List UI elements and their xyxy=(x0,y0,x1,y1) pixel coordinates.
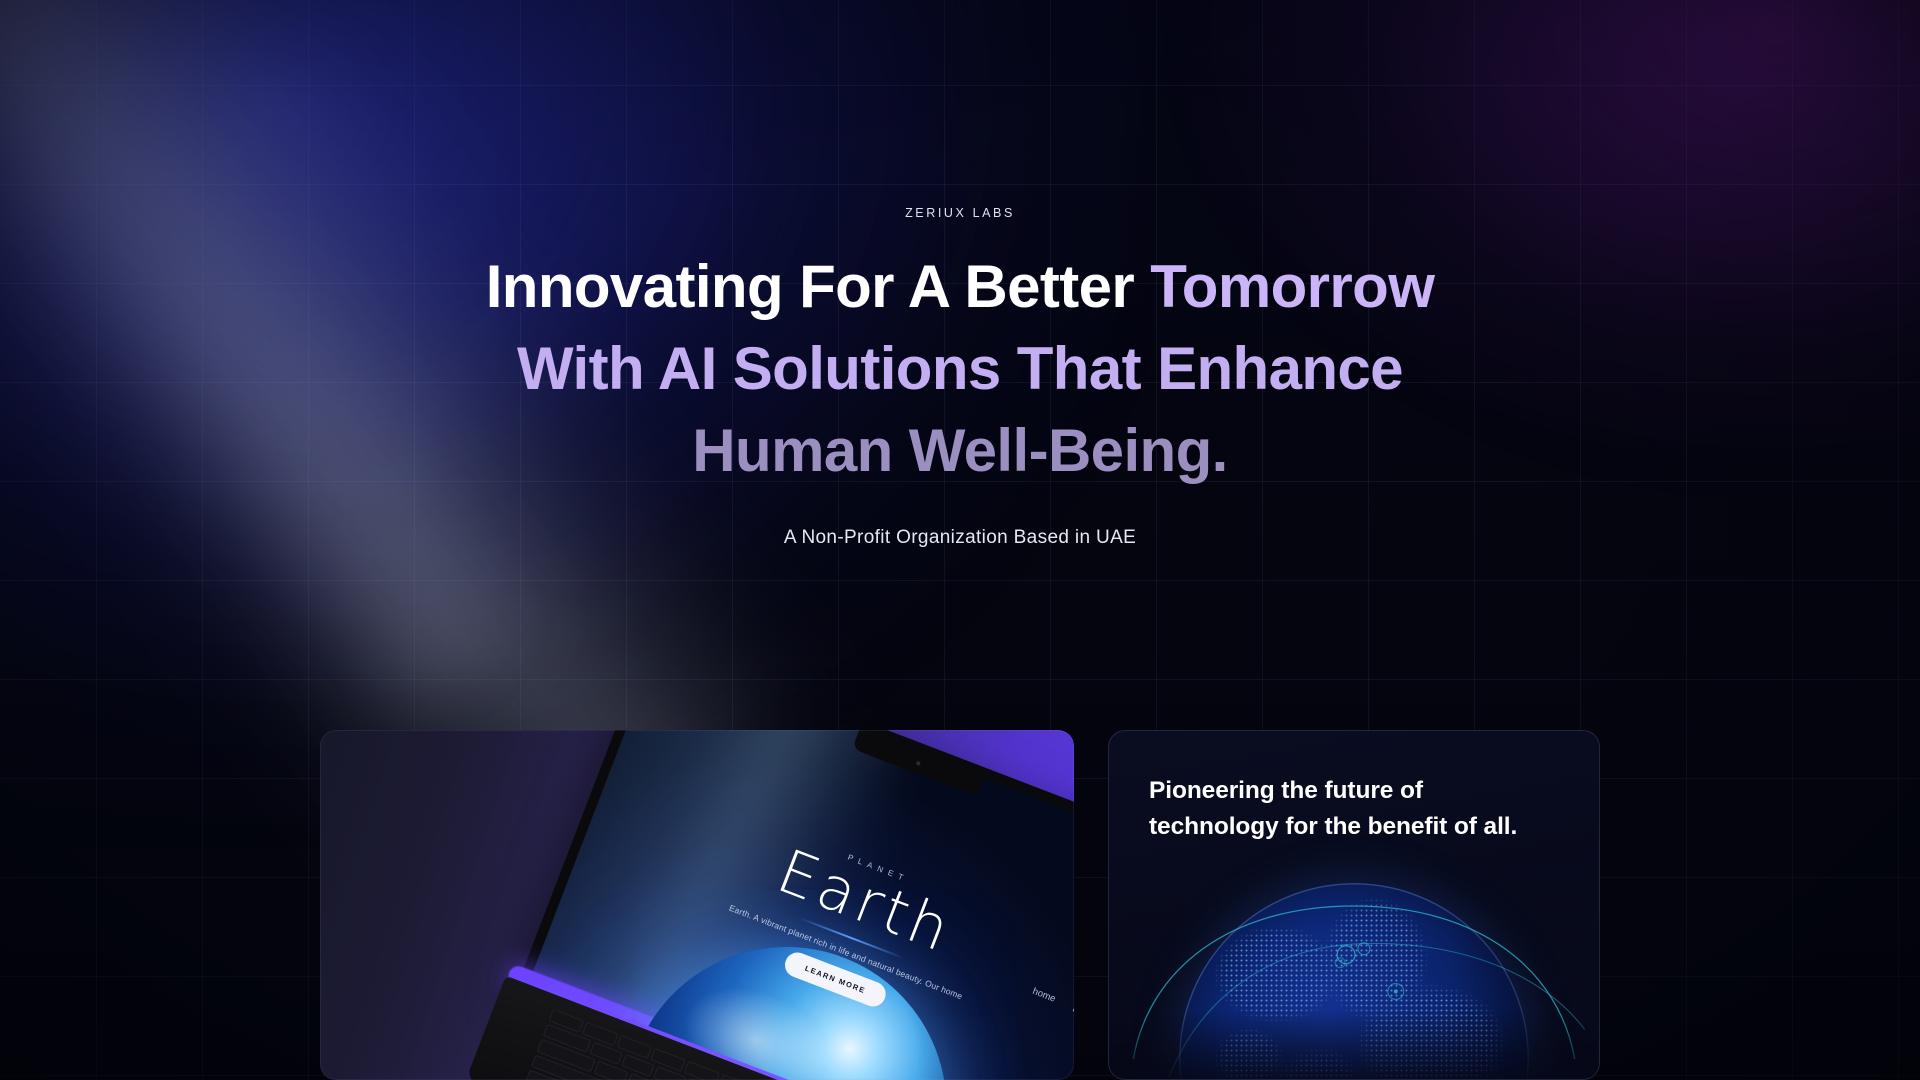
laptop-mockup: SpaceSystem home planets PLANET Earth Ea… xyxy=(482,730,1074,1080)
headline-line-3: Human Well-Being. xyxy=(0,410,1920,492)
showcase-card[interactable]: SpaceSystem home planets PLANET Earth Ea… xyxy=(320,730,1074,1080)
hero-subtitle: A Non-Profit Organization Based in UAE xyxy=(0,527,1920,549)
cards-row: SpaceSystem home planets PLANET Earth Ea… xyxy=(320,730,1600,1080)
page-root: ZERIUX LABS Innovating For A Better Tomo… xyxy=(0,0,1920,1080)
info-card-title: Pioneering the future of technology for … xyxy=(1149,773,1519,845)
webcam-notch xyxy=(852,730,984,797)
headline-line-1-accent: Tomorrow xyxy=(1150,253,1434,320)
page-title: Innovating For A Better Tomorrow With AI… xyxy=(0,246,1920,492)
dotted-globe-icon xyxy=(1179,883,1529,1080)
headline-line-1: Innovating For A Better Tomorrow xyxy=(0,246,1920,328)
headline-line-1-plain: Innovating For A Better xyxy=(486,253,1151,320)
hero-section: ZERIUX LABS Innovating For A Better Tomo… xyxy=(0,206,1920,549)
globe-shading xyxy=(1179,883,1529,1080)
brand-eyebrow: ZERIUX LABS xyxy=(0,206,1920,220)
info-card[interactable]: Pioneering the future of technology for … xyxy=(1108,730,1600,1080)
headline-line-2: With AI Solutions That Enhance xyxy=(0,328,1920,410)
